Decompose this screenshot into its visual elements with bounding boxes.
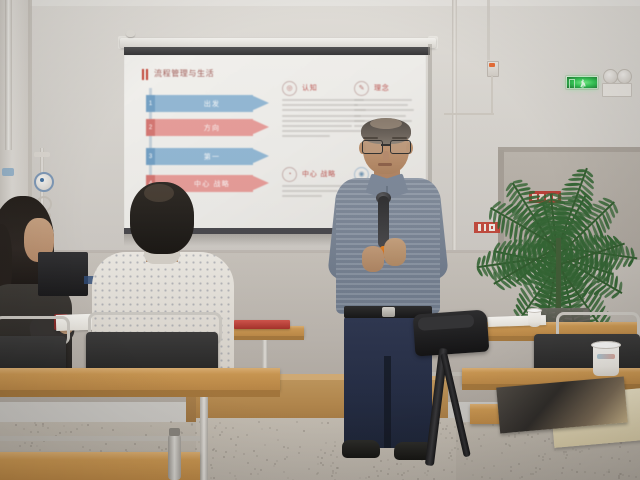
feature-head: ✎ 理念 xyxy=(354,81,426,95)
wall-socket-right xyxy=(617,69,632,84)
attendee-scalp-highlight xyxy=(144,184,174,202)
paper-cup-rim xyxy=(591,341,621,349)
slide-arrow-item-3: 3 第一 xyxy=(146,148,269,165)
compass-icon: ◔ xyxy=(282,167,297,182)
smoke-detector-icon xyxy=(126,30,135,37)
slide-arrow-item-1: 1 出发 xyxy=(146,95,269,112)
black-equipment-box xyxy=(38,252,88,296)
slide-arrow-item-2: 2 方向 xyxy=(146,119,269,136)
red-folders xyxy=(234,320,290,329)
alarm-conduit-horizontal xyxy=(444,113,494,115)
palm-trunk xyxy=(556,238,561,316)
right-wall-seam-2 xyxy=(487,0,490,60)
presenter-hand-left xyxy=(362,246,384,272)
slide-title-accent-icon xyxy=(142,69,149,80)
wall-socket-left xyxy=(603,69,618,84)
exit-door-icon xyxy=(569,79,575,88)
desk-top xyxy=(0,368,280,390)
desk-edge xyxy=(228,336,304,340)
exit-sign-panel xyxy=(567,77,597,88)
presenter-hand-right xyxy=(384,238,406,266)
glasses-lens-right xyxy=(390,140,411,154)
presenter-hair-highlight xyxy=(370,118,402,129)
gauge-dial xyxy=(40,178,44,182)
potted-palm xyxy=(492,118,640,328)
wall-pipe xyxy=(5,0,12,150)
water-bottle-cap xyxy=(169,428,180,436)
classroom-photo: 流程管理与生活 1 出发 2 方向 3 第一 4 xyxy=(0,0,640,480)
arrow-bar: 方向 xyxy=(155,119,269,136)
slide-title: 流程管理与生活 xyxy=(154,68,214,79)
pen-icon: ✎ xyxy=(354,81,369,96)
presenter-eyebrow-left xyxy=(363,137,378,139)
glasses-lens-left xyxy=(362,140,383,154)
arrow-label: 出发 xyxy=(204,99,220,109)
trouser-inseam xyxy=(384,356,391,448)
gas-pipe-head xyxy=(34,152,50,157)
presenter-mouth xyxy=(378,163,392,166)
desk-leg xyxy=(200,397,208,480)
alarm-conduit xyxy=(491,75,493,115)
arrow-label: 第一 xyxy=(204,152,220,162)
arrow-bar: 出发 xyxy=(155,95,269,112)
presenter-eyebrow-right xyxy=(392,137,407,139)
wall-switch-plate xyxy=(602,83,632,97)
glasses-bridge xyxy=(381,144,390,146)
screen-top-bar xyxy=(124,47,430,55)
paper-cup-print xyxy=(597,354,615,359)
emergency-exit-sign xyxy=(565,75,599,90)
feature-title: 理念 xyxy=(374,83,390,93)
fire-alarm-led-icon xyxy=(489,63,495,67)
water-bottle xyxy=(168,434,181,480)
arrow-label: 方向 xyxy=(204,123,220,133)
belt-buckle xyxy=(382,307,395,317)
shield-icon: ◎ xyxy=(282,81,297,96)
presenter-nose xyxy=(383,151,389,161)
right-wall-seam xyxy=(452,0,457,250)
desk-edge xyxy=(0,390,280,397)
ceiling-edge xyxy=(0,0,640,6)
paper-cup-rim xyxy=(527,308,542,313)
pressure-gauge-icon xyxy=(34,172,54,192)
arrow-number: 1 xyxy=(146,95,155,112)
feature-title: 认知 xyxy=(302,83,318,93)
arrow-number: 2 xyxy=(146,119,155,136)
wall-blue-marker xyxy=(2,168,14,176)
arrow-bar: 第一 xyxy=(155,148,269,165)
presenter-shoe-left xyxy=(342,440,380,458)
arrow-number: 3 xyxy=(146,148,155,165)
